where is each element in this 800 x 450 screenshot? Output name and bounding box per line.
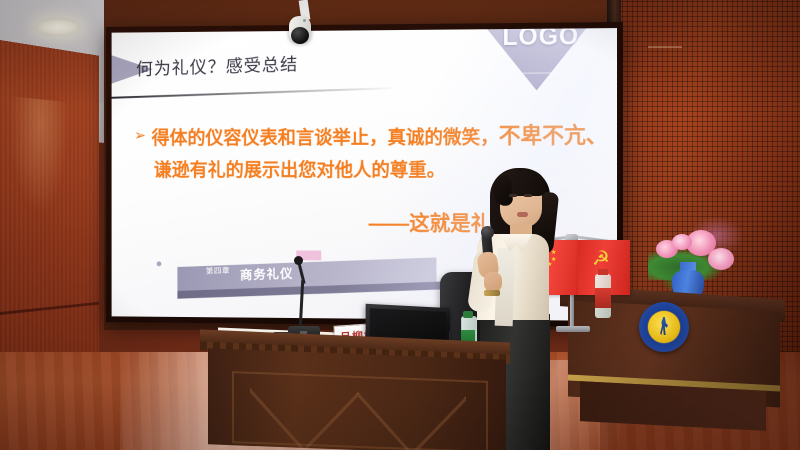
slide-logo-text: LOGO — [502, 28, 579, 52]
water-bottle-cap — [598, 269, 608, 275]
slide-body-line-1-text: 得体的仪容仪表和言谈举止，真诚的微笑， — [152, 127, 499, 148]
slide-body-line-1-emphasis: 不卑不亢、 — [499, 123, 608, 148]
presenter-eye-right — [524, 194, 532, 197]
title-underline — [112, 87, 398, 99]
hammer-and-sickle-icon: ☭ — [592, 248, 616, 270]
wall-light-glow — [9, 96, 69, 215]
recessed-downlight — [35, 18, 81, 36]
microphone-head-icon — [481, 226, 494, 239]
bullet-marker-icon: ➢ — [134, 122, 146, 151]
gooseneck-mic-head-icon — [294, 256, 303, 265]
water-bottle-label — [595, 288, 611, 308]
slide-title: 何为礼仪？感受总结 — [136, 50, 298, 81]
camera-status-led — [303, 19, 306, 22]
presenter-hand-lower — [484, 272, 502, 292]
flower-rose-2 — [708, 248, 734, 270]
presenter-wristwatch — [484, 290, 500, 296]
presenter-eye-left — [509, 194, 517, 197]
slide-footer-chapter: 第四章 — [206, 265, 230, 277]
wall-panel-seam — [0, 302, 99, 315]
slide-footer-dot — [157, 261, 162, 266]
wall-scuff-mark — [648, 46, 682, 48]
camera-lens-dome — [291, 27, 309, 44]
lecture-hall-photo: LOGO 何为礼仪？感受总结 ➢ 得体的仪容仪表和言谈举止，真诚的微笑，不卑不亢… — [0, 0, 800, 450]
flower-lily-2 — [672, 234, 692, 250]
slide-bullet-row: ➢ 得体的仪容仪表和言谈举止，真诚的微笑，不卑不亢、 — [134, 120, 588, 155]
wood-paneled-left-wall — [0, 40, 99, 370]
desk-panel-molding — [232, 371, 488, 450]
presenter-mouth — [517, 212, 528, 217]
slide-body-line-1: 得体的仪容仪表和言谈举止，真诚的微笑，不卑不亢、 — [152, 120, 608, 155]
flag-stand-foot — [556, 326, 590, 332]
flag-star-small-2-icon: ★ — [551, 250, 556, 256]
slide-footer-title: 商务礼仪 — [240, 263, 293, 283]
desk-water-bottle-cap — [463, 311, 473, 318]
